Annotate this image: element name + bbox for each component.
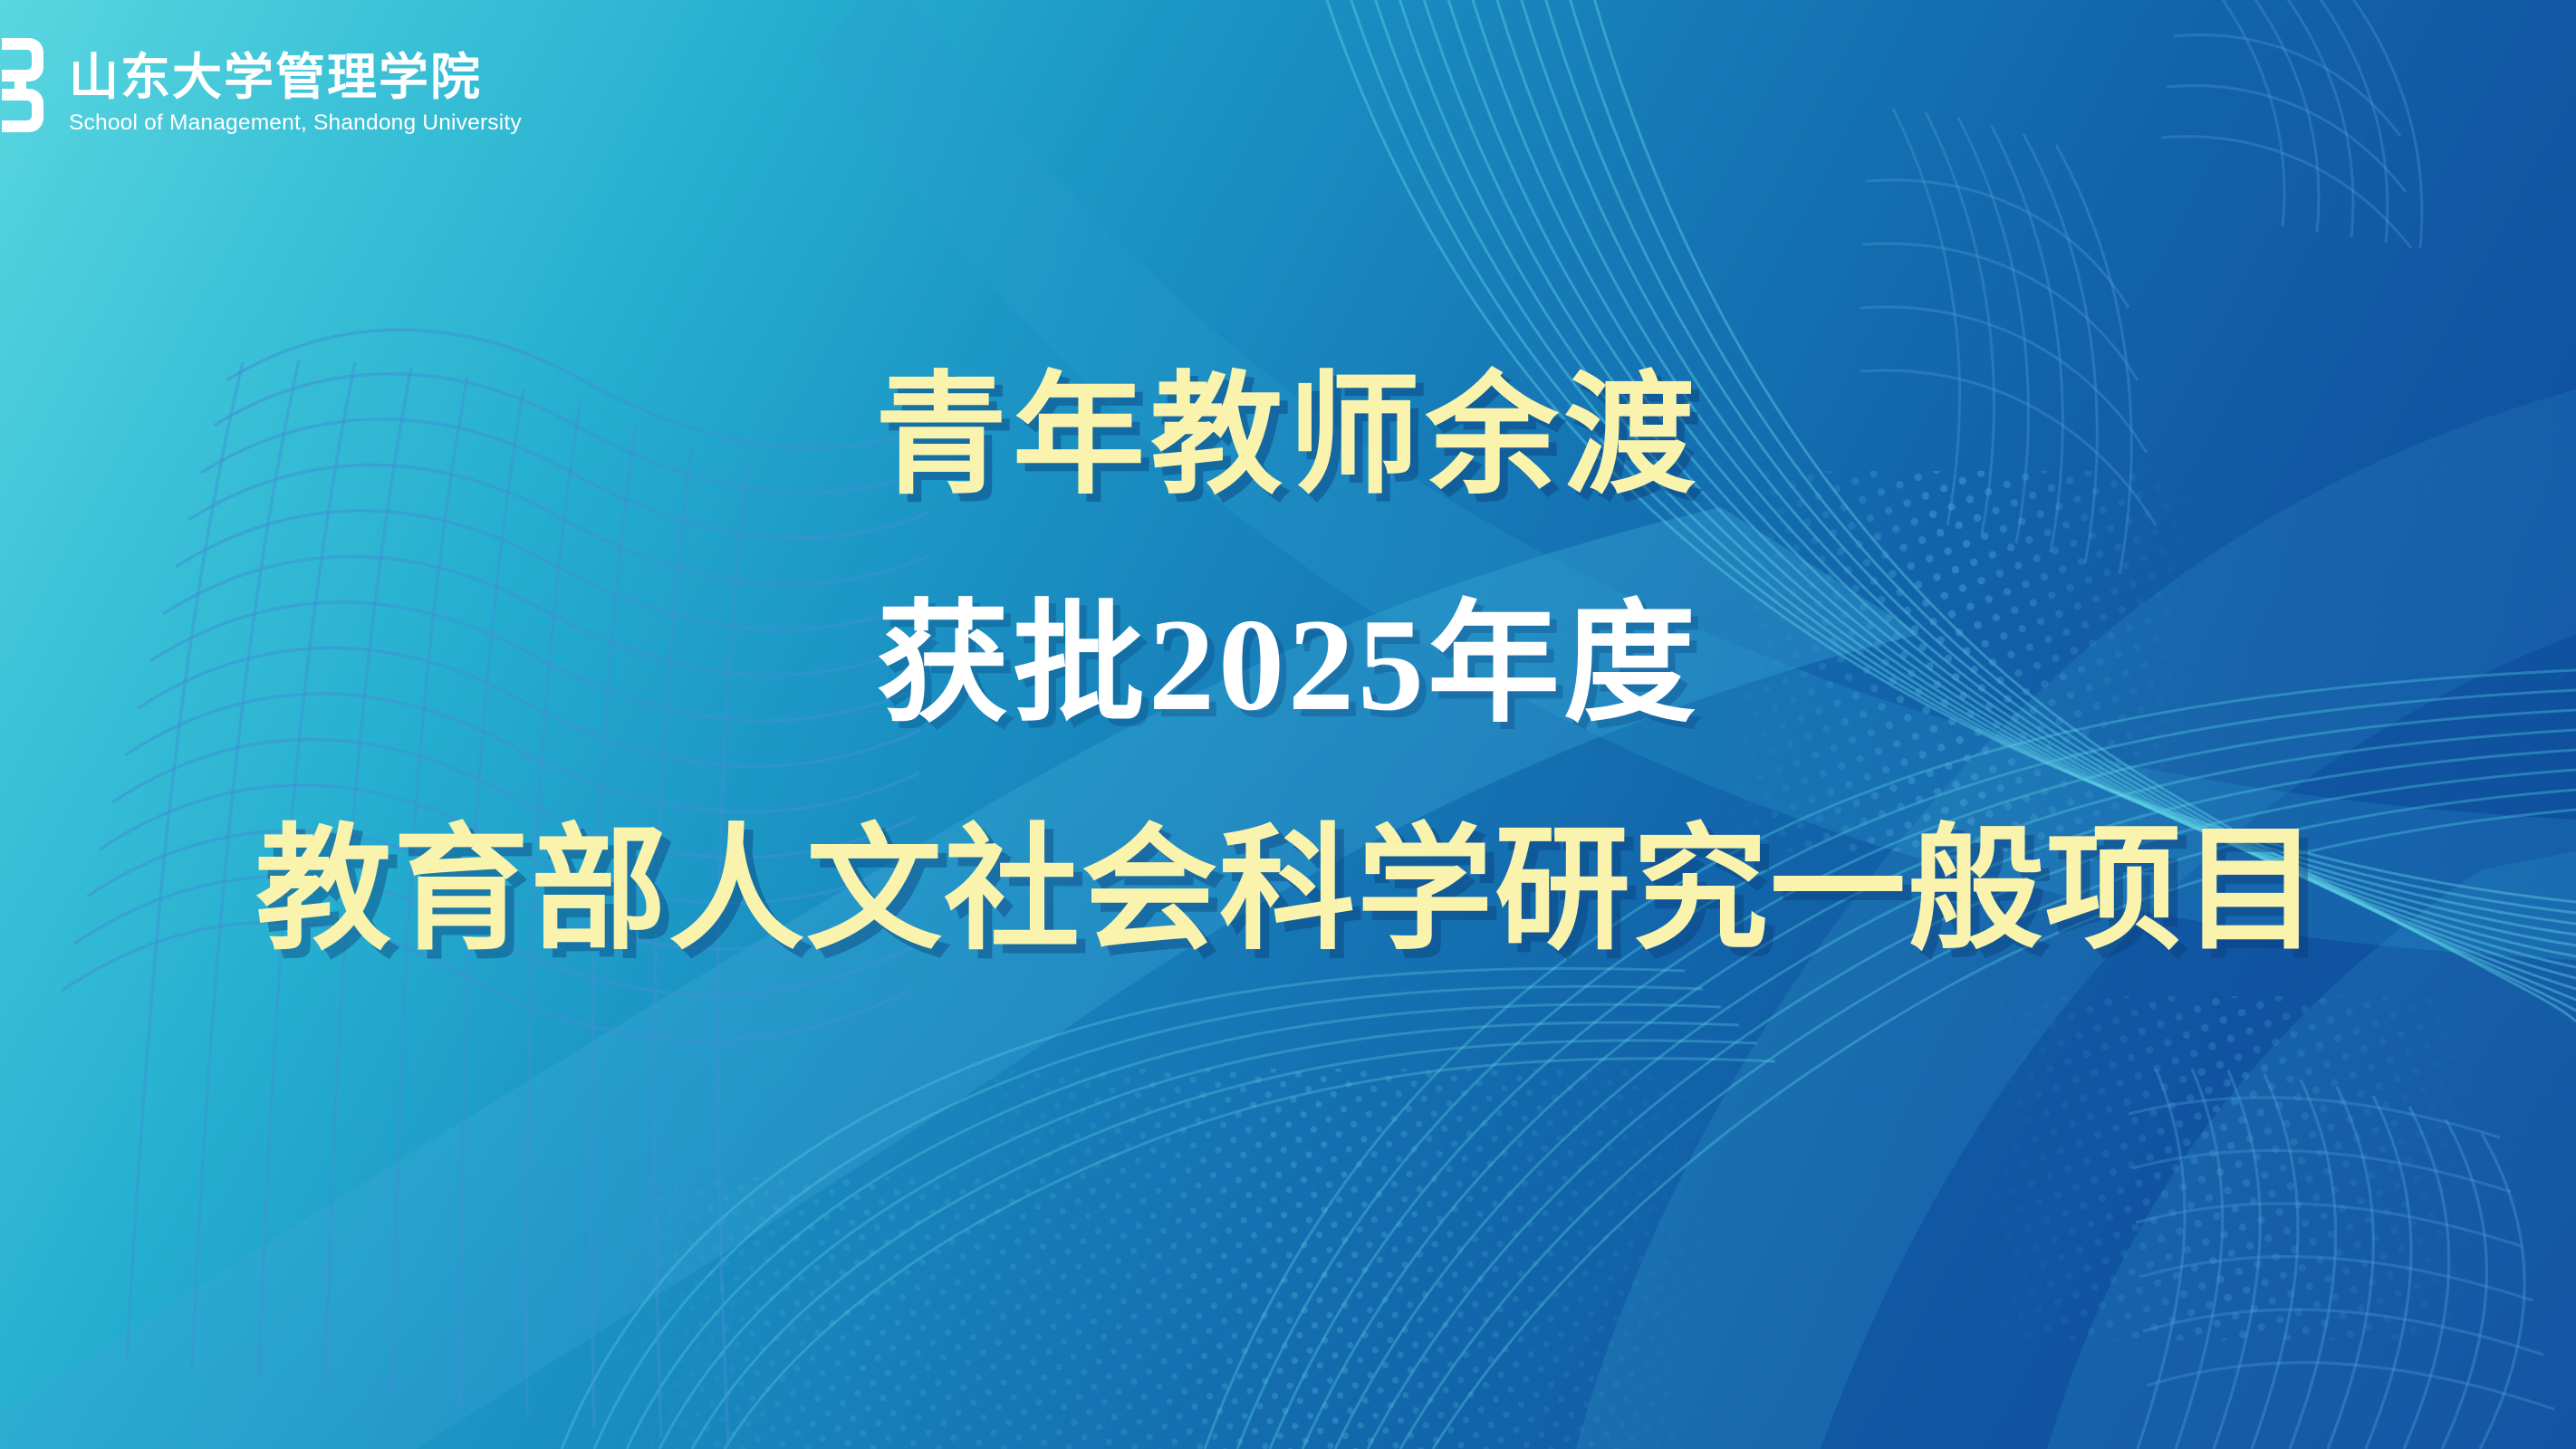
headline-line-1: 青年教师余渡 [875,366,1701,509]
shandong-management-monogram-icon [2,33,60,143]
announcement-banner: 山东大学管理学院 School of Management, Shandong … [0,0,2576,1449]
school-logo: 山东大学管理学院 School of Management, Shandong … [0,33,522,143]
headline-line-3: 教育部人文社会科学研究一般项目 [255,818,2321,964]
headline-block: 青年教师余渡 获批2025年度 教育部人文社会科学研究一般项目 [0,366,2576,964]
headline-line-2: 获批2025年度 [877,594,1699,737]
logo-wordmark: 山东大学管理学院 School of Management, Shandong … [69,53,522,135]
logo-chinese-name: 山东大学管理学院 [69,53,522,102]
logo-english-name: School of Management, Shandong Universit… [69,112,522,135]
